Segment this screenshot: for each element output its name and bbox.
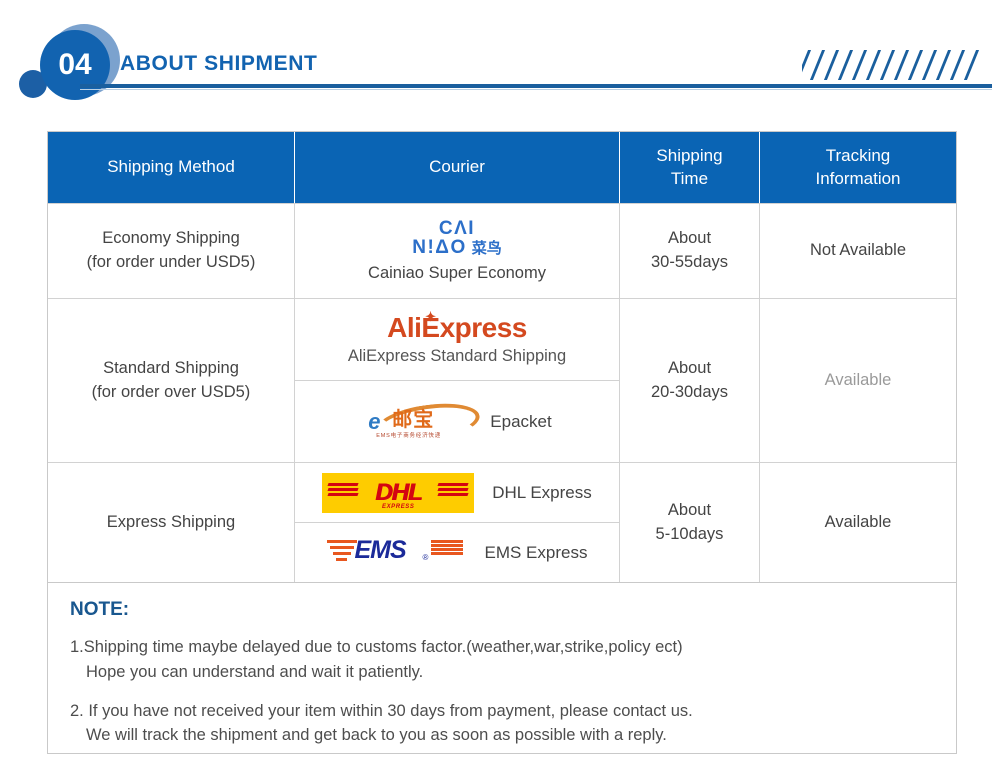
courier-entry-cainiao: CΛI N!ΔO 菜鸟 Cainiao Super Economy <box>295 204 619 298</box>
note-item-line1: 2. If you have not received your item wi… <box>70 699 934 724</box>
note-item-line2: We will track the shipment and get back … <box>70 723 934 748</box>
column-header-tracking-line2: Information <box>815 169 900 188</box>
cell-courier: CΛI N!ΔO 菜鸟 Cainiao Super Economy <box>295 204 620 298</box>
ems-arrow-icon <box>327 540 357 562</box>
dhl-logo: DHL EXPRESS <box>322 473 474 513</box>
courier-name: DHL Express <box>492 483 592 503</box>
column-header-shipping-time-line1: Shipping <box>656 146 722 165</box>
shipping-table: Shipping Method Courier Shipping Time Tr… <box>47 131 957 583</box>
note-title: NOTE: <box>70 599 934 621</box>
column-header-shipping-time: Shipping Time <box>620 132 760 203</box>
stripe-bar <box>808 50 826 80</box>
table-row: Standard Shipping (for order over USD5) … <box>48 298 956 462</box>
ems-registered-icon: ® <box>423 553 429 562</box>
epacket-logo-e: e <box>368 411 380 433</box>
dhl-logo-text: DHL <box>375 481 421 505</box>
stripe-bar <box>906 50 924 80</box>
cainiao-logo-line1: CΛI <box>412 219 502 238</box>
epacket-logo-tagline: EMS电子商务经济快递 <box>376 431 441 439</box>
cell-tracking-information: Not Available <box>760 204 956 298</box>
method-line2: (for order over USD5) <box>92 383 251 401</box>
cell-courier: DHL EXPRESS DHL Express EMS ® <box>295 463 620 582</box>
page-header: 04 ABOUT SHIPMENT <box>0 0 1000 110</box>
column-header-shipping-method: Shipping Method <box>48 132 295 203</box>
dhl-logo-subtext: EXPRESS <box>382 504 415 510</box>
courier-entry-dhl: DHL EXPRESS DHL Express <box>295 463 619 522</box>
cell-shipping-method: Economy Shipping (for order under USD5) <box>48 204 295 298</box>
ems-logo: EMS ® <box>327 536 467 570</box>
courier-name: Cainiao Super Economy <box>368 264 546 283</box>
cell-shipping-method: Express Shipping <box>48 463 295 582</box>
header-rule <box>80 84 992 88</box>
page-title: ABOUT SHIPMENT <box>120 52 317 76</box>
cell-shipping-time: About 20-30days <box>620 299 760 462</box>
table-row: Economy Shipping (for order under USD5) … <box>48 203 956 298</box>
time-line2: 20-30days <box>651 383 728 401</box>
header-rule-thin <box>80 89 992 90</box>
column-header-tracking-information: Tracking Information <box>760 132 956 203</box>
note-item: 2. If you have not received your item wi… <box>70 699 934 749</box>
cell-courier: ✦ AliExpress AliExpress Standard Shippin… <box>295 299 620 462</box>
badge-number: 04 <box>58 50 91 80</box>
time-line1: About <box>668 359 711 377</box>
time-line1: About <box>668 229 711 247</box>
stripe-bar <box>948 50 966 80</box>
stripe-bar <box>892 50 910 80</box>
courier-entry-aliexpress: ✦ AliExpress AliExpress Standard Shippin… <box>295 299 619 380</box>
epacket-logo-chinese: 邮宝 <box>392 410 434 430</box>
courier-name: AliExpress Standard Shipping <box>348 347 566 366</box>
cell-tracking-information: Available <box>760 299 956 462</box>
cell-shipping-method: Standard Shipping (for order over USD5) <box>48 299 295 462</box>
note-item-line1: 1.Shipping time maybe delayed due to cus… <box>70 635 934 660</box>
column-header-shipping-time-line2: Time <box>671 169 708 188</box>
cell-shipping-time: About 5-10days <box>620 463 760 582</box>
cainiao-logo-chinese: 菜鸟 <box>472 241 502 256</box>
column-header-tracking-line1: Tracking <box>826 146 891 165</box>
cell-shipping-time: About 30-55days <box>620 204 760 298</box>
note-item-line2: Hope you can understand and wait it pati… <box>70 660 934 685</box>
aliexpress-logo-text: AliExpress <box>387 312 527 343</box>
epacket-logo: e 邮宝 EMS电子商务经济快递 <box>362 404 478 440</box>
ems-stripes-icon <box>431 540 463 556</box>
time-line2: 30-55days <box>651 253 728 271</box>
time-line2: 5-10days <box>656 525 724 543</box>
courier-entry-epacket: e 邮宝 EMS电子商务经济快递 Epacket <box>295 380 619 462</box>
table-row: Express Shipping DHL EXPRESS DHL Express <box>48 462 956 582</box>
note-item: 1.Shipping time maybe delayed due to cus… <box>70 635 934 685</box>
dhl-speed-lines-left-icon <box>328 483 358 496</box>
stripe-bar <box>836 50 854 80</box>
cell-tracking-information: Available <box>760 463 956 582</box>
cainiao-logo: CΛI N!ΔO 菜鸟 <box>412 219 502 258</box>
dhl-speed-lines-right-icon <box>438 483 468 496</box>
aliexpress-star-icon: ✦ <box>425 310 435 324</box>
method-line2: (for order under USD5) <box>87 253 256 271</box>
stripe-bar <box>920 50 938 80</box>
cainiao-logo-line2: N!ΔO <box>412 238 466 257</box>
stripe-bar <box>878 50 896 80</box>
stripe-bar <box>864 50 882 80</box>
courier-name: Epacket <box>490 412 551 432</box>
ems-logo-text: EMS <box>355 538 406 563</box>
method-line1: Standard Shipping <box>103 359 239 377</box>
column-header-courier: Courier <box>295 132 620 203</box>
table-header-row: Shipping Method Courier Shipping Time Tr… <box>48 132 956 203</box>
time-line1: About <box>668 501 711 519</box>
stripe-bar <box>850 50 868 80</box>
aliexpress-logo: ✦ AliExpress <box>387 313 527 342</box>
stripe-bar <box>822 50 840 80</box>
courier-name: EMS Express <box>485 543 588 563</box>
diagonal-stripes-decoration <box>802 50 992 80</box>
method-line1: Economy Shipping <box>102 229 240 247</box>
stripe-bar <box>934 50 952 80</box>
stripe-bar <box>962 50 980 80</box>
courier-entry-ems: EMS ® EMS Express <box>295 522 619 582</box>
note-section: NOTE: 1.Shipping time maybe delayed due … <box>47 582 957 754</box>
